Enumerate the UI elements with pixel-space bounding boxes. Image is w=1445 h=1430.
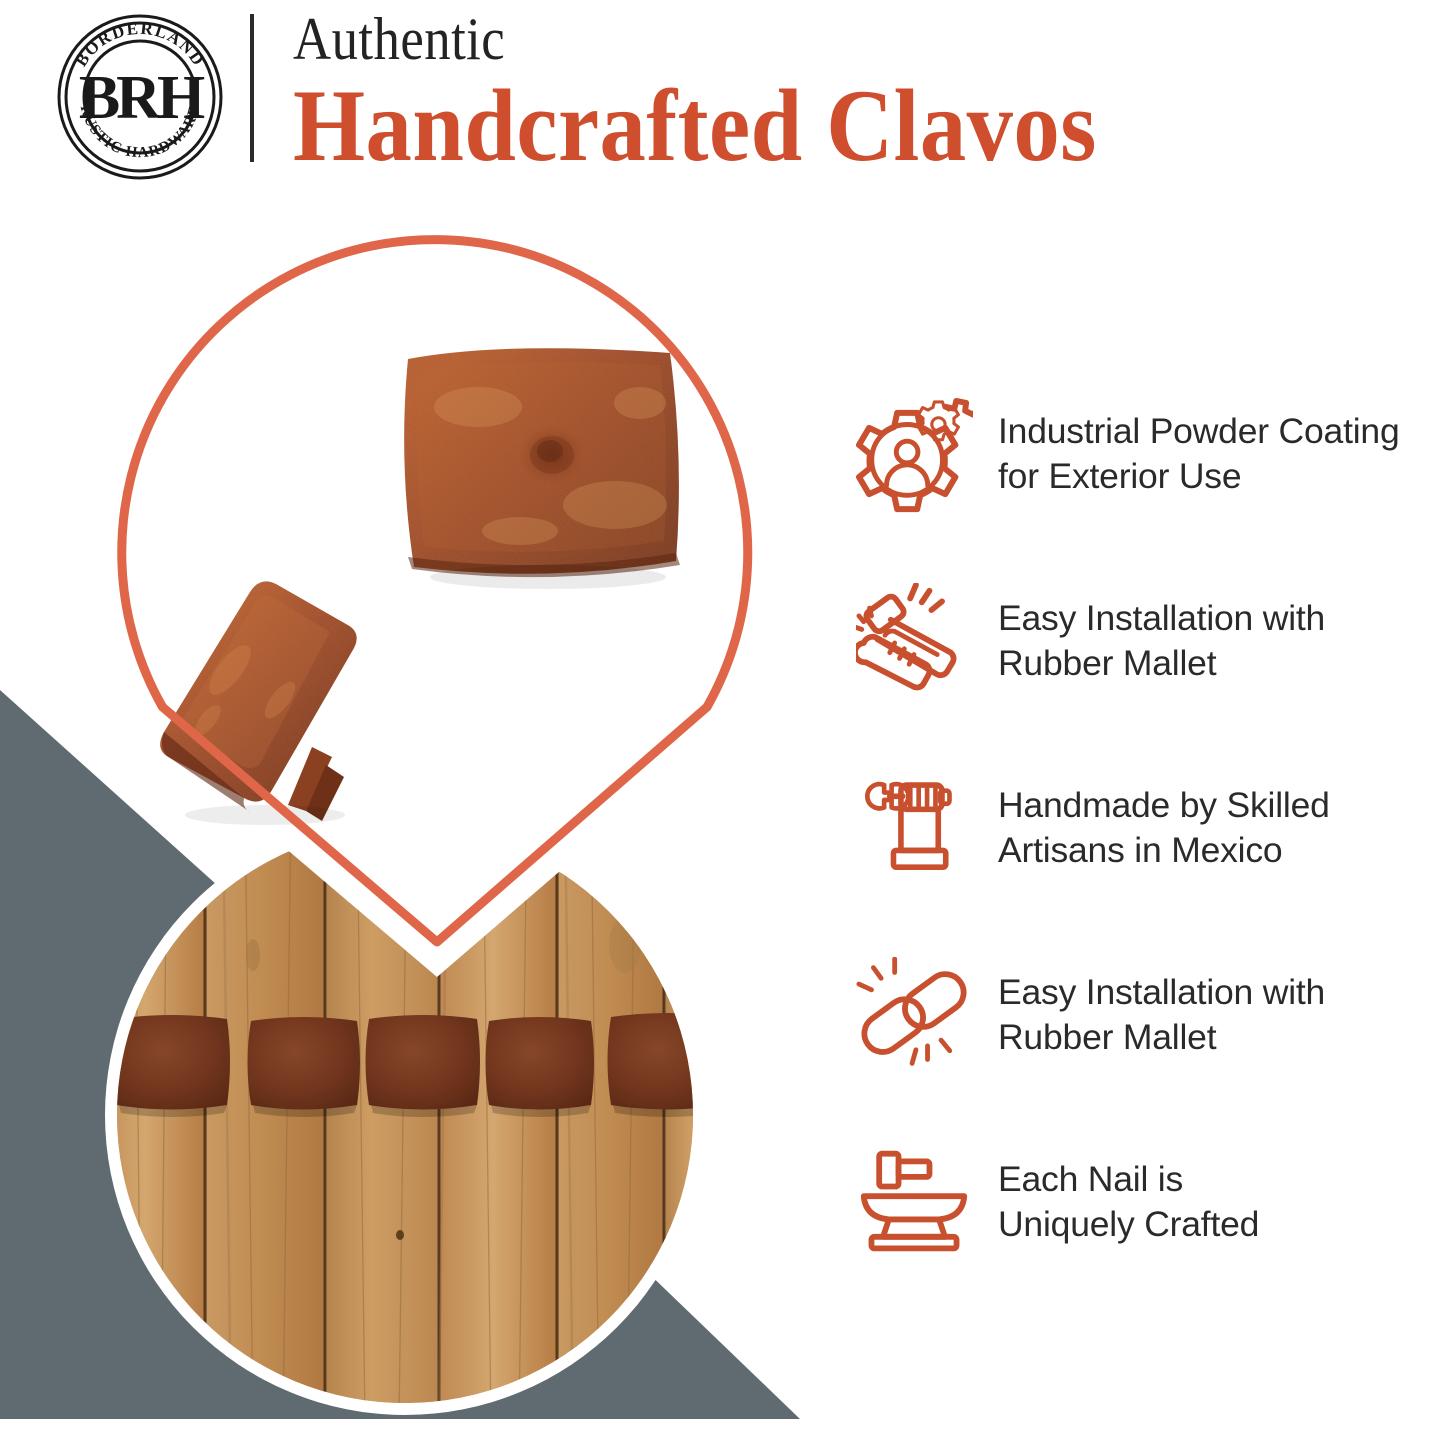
- feature-label: Easy Installation with Rubber Mallet: [990, 596, 1445, 686]
- feature-line: Each Nail is: [998, 1157, 1445, 1202]
- feature-line: Rubber Mallet: [998, 1015, 1445, 1060]
- callout-circle-arc: [122, 240, 748, 707]
- installed-clavos-door-photo: [95, 805, 715, 1425]
- feature-item: Each Nail is Uniquely Crafted: [838, 1108, 1445, 1295]
- header-divider: [250, 14, 254, 162]
- gear-person-icon: [838, 395, 990, 513]
- svg-text:BORDERLAND: BORDERLAND: [71, 19, 208, 70]
- feature-item: Easy Installation with Rubber Mallet: [838, 547, 1445, 734]
- feature-item: Easy Installation with Rubber Mallet: [838, 921, 1445, 1108]
- feature-line: for Exterior Use: [998, 454, 1445, 499]
- feature-line: Industrial Powder Coating: [998, 409, 1445, 454]
- header: BORDERLAND RUSTIC HARDWARE BRH Authentic…: [0, 0, 1445, 190]
- logo-monogram: BRH: [79, 64, 205, 132]
- logo-arc-top-text: BORDERLAND: [71, 19, 208, 70]
- feature-label: Each Nail is Uniquely Crafted: [990, 1157, 1445, 1247]
- feature-line: Handmade by Skilled: [998, 783, 1445, 828]
- feature-list: Industrial Powder Coating for Exterior U…: [838, 360, 1445, 1295]
- feature-line: Uniquely Crafted: [998, 1202, 1445, 1247]
- feature-item: Handmade by Skilled Artisans in Mexico: [838, 734, 1445, 921]
- fist-wrench-icon: [838, 772, 990, 884]
- brand-logo: BORDERLAND RUSTIC HARDWARE BRH: [55, 12, 225, 182]
- hand-mallet-icon: [838, 583, 990, 699]
- feature-label: Handmade by Skilled Artisans in Mexico: [990, 783, 1445, 873]
- page-title: Authentic Handcrafted Clavos: [293, 6, 1433, 178]
- chain-link-icon: [838, 957, 990, 1073]
- product-imagery-column: [0, 190, 800, 1419]
- feature-line: Easy Installation with: [998, 970, 1445, 1015]
- title-line-handcrafted-clavos: Handcrafted Clavos: [293, 74, 1319, 178]
- feature-label: Industrial Powder Coating for Exterior U…: [990, 409, 1445, 499]
- feature-item: Industrial Powder Coating for Exterior U…: [838, 360, 1445, 547]
- anvil-hammer-icon: [838, 1144, 990, 1260]
- feature-line: Easy Installation with: [998, 596, 1445, 641]
- feature-label: Easy Installation with Rubber Mallet: [990, 970, 1445, 1060]
- feature-line: Rubber Mallet: [998, 641, 1445, 686]
- title-line-authentic: Authentic: [293, 6, 1296, 72]
- feature-line: Artisans in Mexico: [998, 828, 1445, 873]
